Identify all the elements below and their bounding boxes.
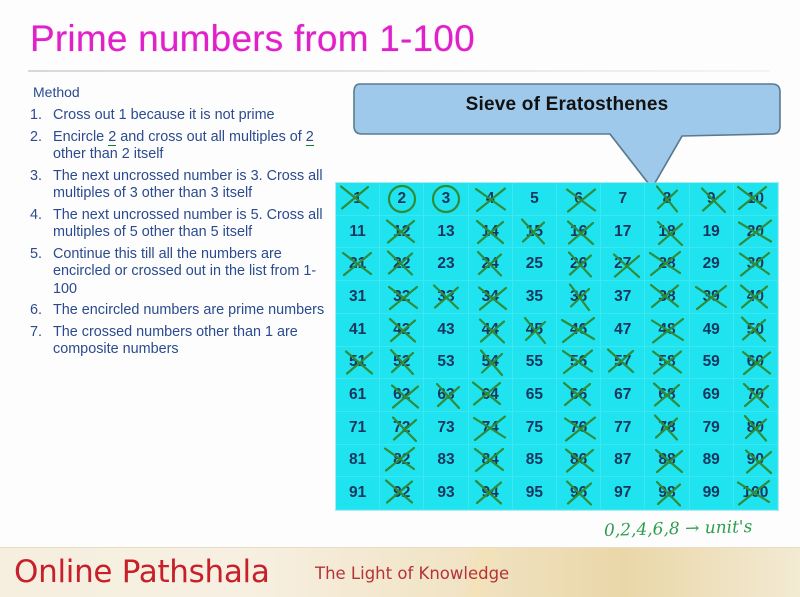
grid-cell-number: 64 [482,386,499,404]
grid-cell-number: 30 [747,255,764,273]
grid-cell-number: 13 [437,223,454,241]
grid-cell[interactable]: 33 [424,281,468,314]
grid-cell-number: 88 [658,451,675,469]
method-item-number: 4. [22,207,48,225]
method-item-text: The encircled numbers are prime numbers [48,302,340,320]
method-item: 7.The crossed numbers other than 1 are c… [22,324,340,359]
method-item-text: Encircle 2 and cross out all multiples o… [48,129,340,164]
handwritten-note: 0,2,4,6,8 → unit's [604,517,753,541]
grid-cell-number: 40 [747,288,764,306]
grid-cell[interactable]: 27 [601,248,645,281]
grid-cell[interactable]: 22 [380,248,424,281]
method-item-number: 6. [22,302,48,320]
grid-cell-number: 61 [349,386,366,404]
grid-cell[interactable]: 79 [690,412,734,445]
grid-cell-number: 67 [614,386,631,404]
grid-cell-number: 85 [526,451,543,469]
method-item-number: 3. [22,168,48,186]
grid-cell[interactable]: 91 [336,477,380,510]
grid-cell[interactable]: 40 [734,281,778,314]
sieve-callout: Sieve of Eratosthenes [352,80,782,192]
grid-cell-number: 59 [703,353,720,371]
method-list: 1.Cross out 1 because it is not prime2.E… [22,107,340,359]
grid-cell[interactable]: 16 [557,216,601,249]
grid-cell[interactable]: 62 [380,379,424,412]
grid-cell-number: 82 [393,451,410,469]
grid-cell-number: 65 [526,386,543,404]
grid-cell[interactable]: 55 [513,347,557,380]
method-item-text: The next uncrossed number is 3. Cross al… [48,168,340,203]
grid-cell[interactable]: 78 [645,412,689,445]
grid-cell-number: 18 [658,223,675,241]
footer-tagline: The Light of Knowledge [315,564,509,583]
grid-cell-number: 22 [393,255,410,273]
footer-brand: Online Pathshala [14,554,270,590]
grid-cell-number: 60 [747,353,764,371]
grid-cell-number: 5 [530,190,539,208]
grid-cell[interactable]: 30 [734,248,778,281]
grid-cell-number: 16 [570,223,587,241]
grid-cell[interactable]: 85 [513,445,557,478]
slide-canvas: Prime numbers from 1-100 Method 1.Cross … [0,0,800,597]
grid-cell-number: 98 [658,484,675,502]
grid-cell-number: 35 [526,288,543,306]
grid-cell-number: 10 [747,190,764,208]
grid-cell[interactable]: 20 [734,216,778,249]
grid-cell-number: 8 [663,190,672,208]
grid-cell[interactable]: 11 [336,216,380,249]
grid-cell-number: 39 [703,288,720,306]
grid-cell-number: 62 [393,386,410,404]
grid-cell-number: 81 [349,451,366,469]
grid-cell[interactable]: 76 [557,412,601,445]
grid-cell[interactable]: 96 [557,477,601,510]
grid-cell[interactable]: 100 [734,477,778,510]
grid-cell-number: 3 [442,190,451,208]
grid-cell[interactable]: 94 [469,477,513,510]
grid-cell-number: 44 [482,321,499,339]
grid-cell[interactable]: 6 [557,183,601,216]
grid-cell[interactable]: 98 [645,477,689,510]
method-item: 1.Cross out 1 because it is not prime [22,107,340,125]
grid-cell[interactable]: 64 [469,379,513,412]
method-item: 2.Encircle 2 and cross out all multiples… [22,129,340,164]
grid-cell-number: 76 [570,419,587,437]
grid-cell-number: 63 [437,386,454,404]
grid-cell[interactable]: 25 [513,248,557,281]
grid-cell[interactable]: 82 [380,445,424,478]
method-item-number: 5. [22,246,48,264]
grid-cell[interactable]: 77 [601,412,645,445]
grid-cell-number: 27 [614,255,631,273]
grid-cell[interactable]: 81 [336,445,380,478]
grid-cell[interactable]: 49 [690,314,734,347]
page-title: Prime numbers from 1-100 [30,18,475,60]
callout-label: Sieve of Eratosthenes [352,94,782,116]
grid-cell-number: 31 [349,288,366,306]
grid-cell-number: 89 [703,451,720,469]
grid-cell[interactable]: 93 [424,477,468,510]
grid-cell-number: 99 [703,484,720,502]
grid-cell[interactable]: 9 [690,183,734,216]
grid-cell-number: 32 [393,288,410,306]
grid-cell[interactable]: 56 [557,347,601,380]
grid-cell[interactable]: 43 [424,314,468,347]
method-item-text: Cross out 1 because it is not prime [48,107,340,125]
grid-cell[interactable]: 50 [734,314,778,347]
grid-cell-number: 2 [397,190,406,208]
grid-cell[interactable]: 59 [690,347,734,380]
grid-cell-number: 1 [353,190,362,208]
grid-cell[interactable]: 29 [690,248,734,281]
grid-cell[interactable]: 42 [380,314,424,347]
method-item-text: The next uncrossed number is 5. Cross al… [48,207,340,242]
grid-cell[interactable]: 17 [601,216,645,249]
grid-cell-number: 74 [482,419,499,437]
grid-cell-number: 15 [526,223,543,241]
grid-cell-number: 58 [658,353,675,371]
method-item-number: 7. [22,324,48,342]
grid-cell-number: 29 [703,255,720,273]
grid-cell-number: 33 [437,288,454,306]
grid-cell-number: 87 [614,451,631,469]
grid-cell-number: 80 [747,419,764,437]
grid-cell[interactable]: 68 [645,379,689,412]
grid-cell[interactable]: 80 [734,412,778,445]
grid-cell[interactable]: 70 [734,379,778,412]
grid-cell[interactable]: 2 [380,183,424,216]
grid-cell-number: 38 [658,288,675,306]
grid-cell[interactable]: 83 [424,445,468,478]
grid-cell-number: 52 [393,353,410,371]
grid-cell-number: 55 [526,353,543,371]
grid-cell[interactable]: 31 [336,281,380,314]
grid-cell[interactable]: 15 [513,216,557,249]
grid-cell-number: 25 [526,255,543,273]
grid-cell[interactable]: 57 [601,347,645,380]
grid-cell-number: 71 [349,419,366,437]
grid-cell-number: 9 [707,190,716,208]
title-divider [28,70,770,72]
grid-cell-number: 41 [349,321,366,339]
grid-cell-number: 95 [526,484,543,502]
grid-cell-number: 14 [482,223,499,241]
grid-cell-number: 69 [703,386,720,404]
grid-cell[interactable]: 99 [690,477,734,510]
grid-cell-number: 79 [703,419,720,437]
method-item: 5.Continue this till all the numbers are… [22,246,340,299]
grid-cell[interactable]: 74 [469,412,513,445]
grid-cell[interactable]: 97 [601,477,645,510]
grid-cell-number: 11 [349,223,365,241]
grid-cell-number: 70 [747,386,764,404]
grid-cell-number: 21 [349,255,366,273]
grid-cell-number: 83 [437,451,454,469]
grid-cell[interactable]: 46 [557,314,601,347]
grid-cell-number: 46 [570,321,587,339]
grid-cell-number: 23 [437,255,454,273]
method-item-text: Continue this till all the numbers are e… [48,246,340,299]
grid-cell-number: 24 [482,255,499,273]
number-grid: 1234567891011121314151617181920212223242… [336,183,778,510]
grid-cell[interactable]: 54 [469,347,513,380]
grid-cell-number: 56 [570,353,587,371]
method-item: 4.The next uncrossed number is 5. Cross … [22,207,340,242]
grid-cell-number: 86 [570,451,587,469]
grid-cell[interactable]: 72 [380,412,424,445]
grid-cell-number: 78 [658,419,675,437]
grid-cell[interactable]: 23 [424,248,468,281]
grid-cell[interactable]: 24 [469,248,513,281]
grid-cell-number: 77 [614,419,631,437]
grid-cell-number: 49 [703,321,720,339]
grid-cell-number: 47 [614,321,631,339]
grid-cell-number: 75 [526,419,543,437]
grid-cell[interactable]: 19 [690,216,734,249]
grid-cell[interactable]: 51 [336,347,380,380]
grid-cell[interactable]: 86 [557,445,601,478]
grid-cell-number: 96 [570,484,587,502]
grid-cell-number: 73 [437,419,454,437]
grid-cell-number: 92 [393,484,410,502]
grid-cell[interactable]: 12 [380,216,424,249]
grid-cell[interactable]: 58 [645,347,689,380]
grid-cell-number: 36 [570,288,587,306]
grid-cell[interactable]: 34 [469,281,513,314]
grid-cell-number: 51 [349,353,366,371]
grid-cell[interactable]: 7 [601,183,645,216]
grid-cell[interactable]: 35 [513,281,557,314]
method-item-number: 2. [22,129,48,147]
grid-cell[interactable]: 71 [336,412,380,445]
grid-cell-number: 48 [658,321,675,339]
method-item-number: 1. [22,107,48,125]
grid-cell[interactable]: 21 [336,248,380,281]
grid-cell[interactable]: 32 [380,281,424,314]
grid-cell-number: 20 [747,223,764,241]
grid-cell-number: 53 [437,353,454,371]
grid-cell[interactable]: 53 [424,347,468,380]
grid-cell-number: 91 [349,484,366,502]
grid-cell-number: 90 [747,451,764,469]
grid-cell[interactable]: 38 [645,281,689,314]
grid-cell-number: 19 [703,223,720,241]
grid-cell[interactable]: 65 [513,379,557,412]
grid-cell[interactable]: 10 [734,183,778,216]
grid-cell-number: 93 [437,484,454,502]
grid-cell-number: 6 [574,190,583,208]
grid-cell[interactable]: 75 [513,412,557,445]
grid-cell-number: 4 [486,190,495,208]
grid-cell[interactable]: 61 [336,379,380,412]
grid-cell[interactable]: 84 [469,445,513,478]
grid-cell[interactable]: 92 [380,477,424,510]
grid-cell[interactable]: 5 [513,183,557,216]
grid-cell[interactable]: 44 [469,314,513,347]
grid-cell[interactable]: 89 [690,445,734,478]
grid-cell-number: 57 [614,353,631,371]
grid-cell-number: 66 [570,386,587,404]
method-item: 6.The encircled numbers are prime number… [22,302,340,320]
grid-cell-number: 12 [393,223,410,241]
footer-bar: Online Pathshala The Light of Knowledge [0,547,800,597]
grid-cell-number: 45 [526,321,543,339]
grid-cell-number: 42 [393,321,410,339]
grid-cell-number: 72 [393,419,410,437]
method-item-text: The crossed numbers other than 1 are com… [48,324,340,359]
grid-cell[interactable]: 95 [513,477,557,510]
grid-cell[interactable]: 26 [557,248,601,281]
grid-cell[interactable]: 36 [557,281,601,314]
grid-cell[interactable]: 14 [469,216,513,249]
grid-cell[interactable]: 41 [336,314,380,347]
grid-cell-number: 50 [747,321,764,339]
grid-cell[interactable]: 63 [424,379,468,412]
grid-cell-number: 7 [618,190,627,208]
method-label: Method [33,84,340,100]
grid-cell[interactable]: 66 [557,379,601,412]
grid-cell[interactable]: 73 [424,412,468,445]
grid-cell-number: 97 [614,484,631,502]
grid-cell[interactable]: 60 [734,347,778,380]
grid-cell[interactable]: 18 [645,216,689,249]
grid-cell[interactable]: 52 [380,347,424,380]
grid-cell-number: 68 [658,386,675,404]
grid-cell[interactable]: 3 [424,183,468,216]
grid-cell[interactable]: 88 [645,445,689,478]
grid-cell[interactable]: 39 [690,281,734,314]
grid-cell[interactable]: 1 [336,183,380,216]
grid-cell-number: 84 [482,451,499,469]
grid-cell[interactable]: 69 [690,379,734,412]
method-item: 3.The next uncrossed number is 3. Cross … [22,168,340,203]
grid-cell-number: 28 [658,255,675,273]
grid-cell[interactable]: 67 [601,379,645,412]
method-block: Method 1.Cross out 1 because it is not p… [22,84,340,363]
grid-cell-number: 37 [614,288,631,306]
grid-cell[interactable]: 28 [645,248,689,281]
grid-cell[interactable]: 37 [601,281,645,314]
grid-cell-number: 17 [614,223,631,241]
grid-cell-number: 100 [742,484,768,502]
grid-cell[interactable]: 4 [469,183,513,216]
grid-cell[interactable]: 47 [601,314,645,347]
grid-cell[interactable]: 8 [645,183,689,216]
grid-cell[interactable]: 45 [513,314,557,347]
grid-cell-number: 54 [482,353,499,371]
grid-cell-number: 34 [482,288,499,306]
grid-cell[interactable]: 87 [601,445,645,478]
grid-cell[interactable]: 90 [734,445,778,478]
grid-cell-number: 94 [482,484,499,502]
grid-cell-number: 26 [570,255,587,273]
grid-cell-number: 43 [437,321,454,339]
grid-cell[interactable]: 13 [424,216,468,249]
grid-cell[interactable]: 48 [645,314,689,347]
